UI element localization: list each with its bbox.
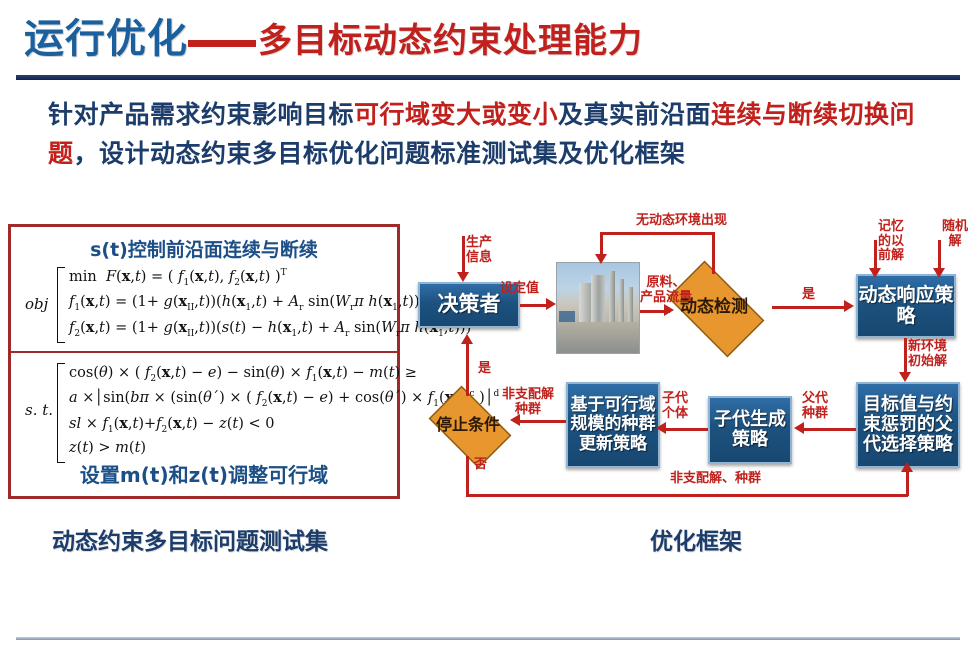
arrow-head-no-dynamic-env <box>595 254 607 264</box>
label-offspring-individual: 子代 个体 <box>662 392 688 421</box>
node-offspring-generation-strategy[interactable]: 子代生成策略 <box>708 396 792 464</box>
lead-segment-2: 及真实前沿面 <box>558 100 711 129</box>
arrow-offspring-individual <box>662 428 708 431</box>
title-main-text: 运行优化 <box>24 16 188 62</box>
formula-panel-header: s(t)控制前沿面连续与断续 <box>11 235 397 262</box>
arrow-head-yes-decision-maker <box>461 334 473 344</box>
arrow-new-env-init <box>904 338 907 376</box>
arrow-no-dynamic-env-vertical <box>712 232 715 274</box>
label-yes-stop: 是 <box>478 362 491 377</box>
arrow-head-no-loop <box>901 462 913 472</box>
label-no-stop: 否 <box>474 458 487 473</box>
arrow-head-offspring-individual <box>656 422 666 434</box>
footer-divider-rule <box>16 637 960 640</box>
node-population-update-strategy[interactable]: 基于可行域规模的种群更新策略 <box>566 382 660 468</box>
arrow-production-info <box>462 236 465 274</box>
arrow-no-loop-up <box>906 470 909 496</box>
label-memory-prev-solution: 记忆 的以 前解 <box>878 220 904 264</box>
arrow-head-memory-prev <box>869 268 881 278</box>
label-yes-detect: 是 <box>802 288 815 303</box>
arrow-head-parent-population <box>794 422 804 434</box>
node-parent-selection-strategy[interactable]: 目标值与约束惩罚的父代选择策略 <box>856 382 960 468</box>
label-production-info: 生产 信息 <box>466 236 492 265</box>
lead-highlight-1: 可行域变大或变小 <box>354 100 558 129</box>
arrow-nondominated-population <box>516 420 566 423</box>
arrow-no-dynamic-env-drop <box>600 232 603 256</box>
label-new-env-init-solution: 新环境 初始解 <box>908 340 947 369</box>
label-nondominated-population: 非支配解 种群 <box>502 388 554 417</box>
caption-left: 动态约束多目标问题测试集 <box>52 522 328 556</box>
formula-panel-footer: 设置m(t)和z(t)调整可行域 <box>11 459 397 488</box>
label-setpoint: 设定值 <box>500 282 539 297</box>
label-nondominated-population-2: 非支配解、种群 <box>670 472 761 487</box>
objective-label: obj <box>25 295 48 313</box>
arrow-head-setpoint <box>546 298 556 310</box>
node-stop-condition-label: 停止条件 <box>436 416 500 434</box>
caption-right: 优化框架 <box>650 522 742 556</box>
formula-panel: s(t)控制前沿面连续与断续 obj min F(x,t) = ( f1(x,t… <box>8 224 400 499</box>
arrow-no-loop-bottom <box>466 494 908 497</box>
slide-root: 运行优化多目标动态约束处理能力 针对产品需求约束影响目标可行域变大或变小及真实前… <box>0 0 972 653</box>
title-divider-rule <box>16 75 960 80</box>
arrow-parent-population <box>800 428 856 431</box>
lead-paragraph: 针对产品需求约束影响目标可行域变大或变小及真实前沿面连续与断续切换问题，设计动态… <box>48 96 948 174</box>
formula-panel-divider <box>11 351 397 353</box>
optimization-flowchart: 决策者 动态检测 动态响应策略 目标值与约束惩罚的父代选择策略 子代生成策略 基… <box>404 214 972 510</box>
slide-title: 运行优化多目标动态约束处理能力 <box>24 6 643 64</box>
node-dynamic-response-strategy[interactable]: 动态响应策略 <box>856 274 956 338</box>
lead-segment-3: ，设计动态约束多目标优化问题标准测试集及优化框架 <box>74 139 686 168</box>
title-sub-text: 多目标动态约束处理能力 <box>258 21 643 61</box>
constraint-label: s. t. <box>25 401 53 419</box>
label-parent-population: 父代 种群 <box>802 392 828 421</box>
node-dynamic-detection-label: 动态检测 <box>680 298 748 317</box>
arrow-head-feed-flow <box>664 304 674 316</box>
arrow-head-random-solution <box>933 268 945 278</box>
lead-segment-1: 针对产品需求约束影响目标 <box>48 100 354 129</box>
arrow-no-dynamic-env-horizontal <box>600 232 714 235</box>
arrow-head-yes-response <box>844 300 854 312</box>
label-random-solution: 随机 解 <box>942 220 968 249</box>
arrow-yes-to-decision-maker <box>466 342 469 396</box>
arrow-no-loop-down <box>466 456 469 496</box>
label-no-dynamic-env: 无动态环境出现 <box>636 214 727 229</box>
arrow-yes-to-response <box>772 306 848 309</box>
industrial-plant-photo <box>556 262 640 354</box>
constraint-brace <box>57 363 65 463</box>
objective-brace <box>57 267 65 343</box>
title-dash-rule <box>188 40 256 47</box>
arrow-head-production-info <box>457 272 469 282</box>
arrow-head-new-env-init <box>899 372 911 382</box>
